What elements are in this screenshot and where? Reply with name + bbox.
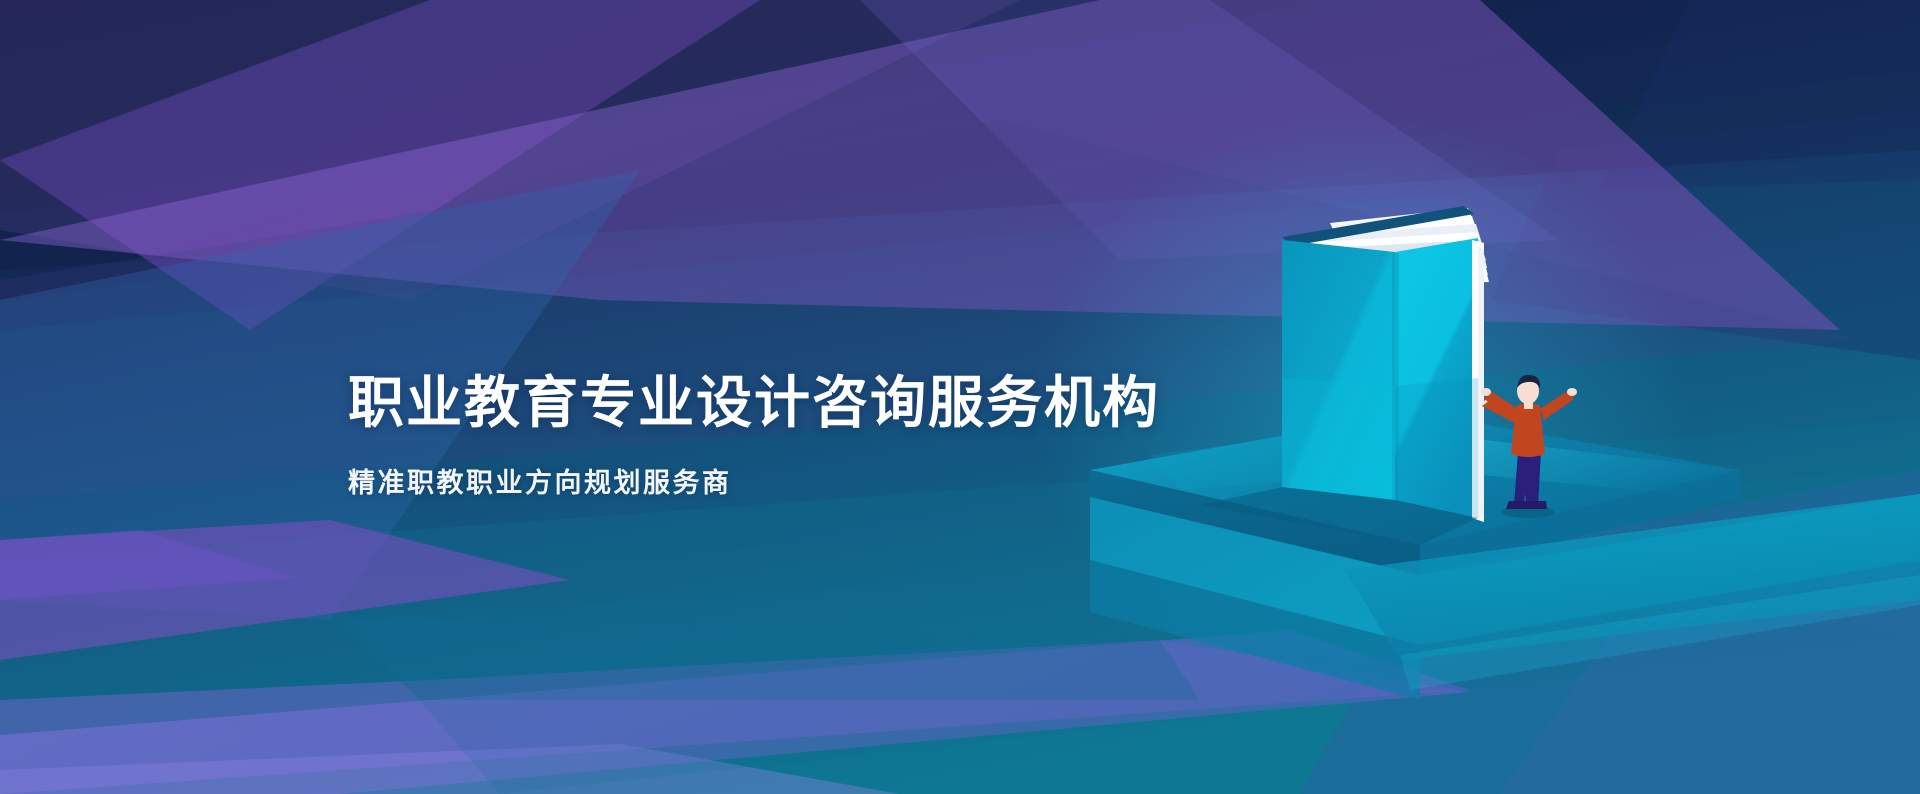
pencil-icon: [1482, 398, 1530, 428]
platform-lower: [1090, 494, 1920, 700]
open-book: [1200, 206, 1489, 545]
page-title: 职业教育专业设计咨询服务机构: [348, 370, 1160, 436]
copy-block: 职业教育专业设计咨询服务机构 精准职教职业方向规划服务商: [348, 370, 1160, 501]
person-arms-raised: [1481, 375, 1577, 518]
platform-upper: [1090, 412, 1740, 575]
page-subtitle: 精准职教职业方向规划服务商: [348, 466, 1160, 501]
hero-banner: 职业教育专业设计咨询服务机构 精准职教职业方向规划服务商: [0, 0, 1920, 794]
